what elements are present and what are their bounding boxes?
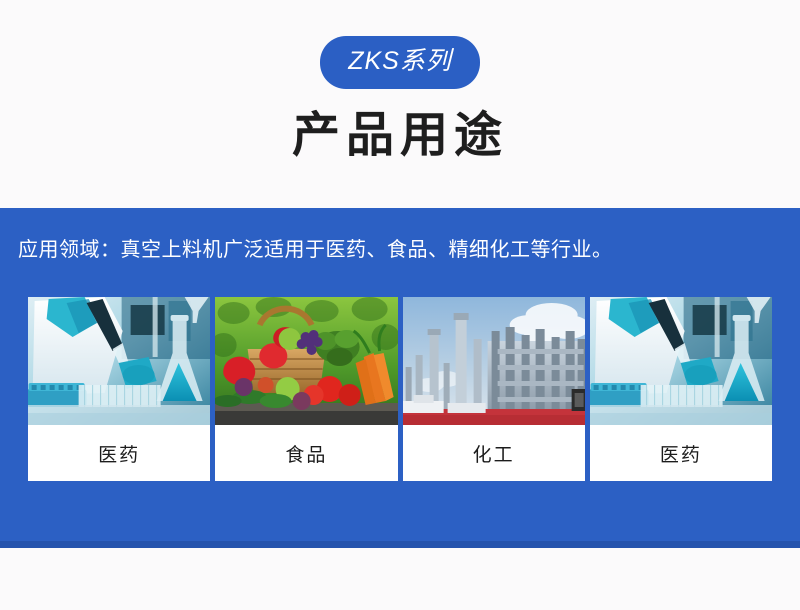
industry-card[interactable]: 食品 bbox=[215, 297, 397, 481]
industry-card-list: 医药 bbox=[28, 297, 772, 481]
panel-bottom-divider bbox=[0, 541, 800, 548]
application-panel: 应用领域：真空上料机广泛适用于医药、食品、精细化工等行业。 bbox=[0, 208, 800, 548]
laboratory-pipette-flask-photo bbox=[28, 297, 210, 425]
series-badge: ZKS系列 bbox=[320, 36, 480, 89]
industry-card[interactable]: 医药 bbox=[28, 297, 210, 481]
chemical-plant-photo bbox=[403, 297, 585, 425]
fresh-vegetables-basket-photo bbox=[215, 297, 397, 425]
industry-card-caption: 食品 bbox=[215, 425, 397, 481]
industry-card[interactable]: 医药 bbox=[590, 297, 772, 481]
laboratory-pipette-flask-photo bbox=[590, 297, 772, 425]
industry-card-caption: 化工 bbox=[403, 425, 585, 481]
product-usage-page: ZKS系列 产品用途 应用领域：真空上料机广泛适用于医药、食品、精细化工等行业。 bbox=[0, 0, 800, 610]
industry-card-caption: 医药 bbox=[28, 425, 210, 481]
industry-card-caption: 医药 bbox=[590, 425, 772, 481]
application-note: 应用领域：真空上料机广泛适用于医药、食品、精细化工等行业。 bbox=[18, 233, 613, 262]
page-header: ZKS系列 产品用途 bbox=[0, 0, 800, 161]
page-title: 产品用途 bbox=[0, 111, 800, 161]
industry-card[interactable]: 化工 bbox=[403, 297, 585, 481]
